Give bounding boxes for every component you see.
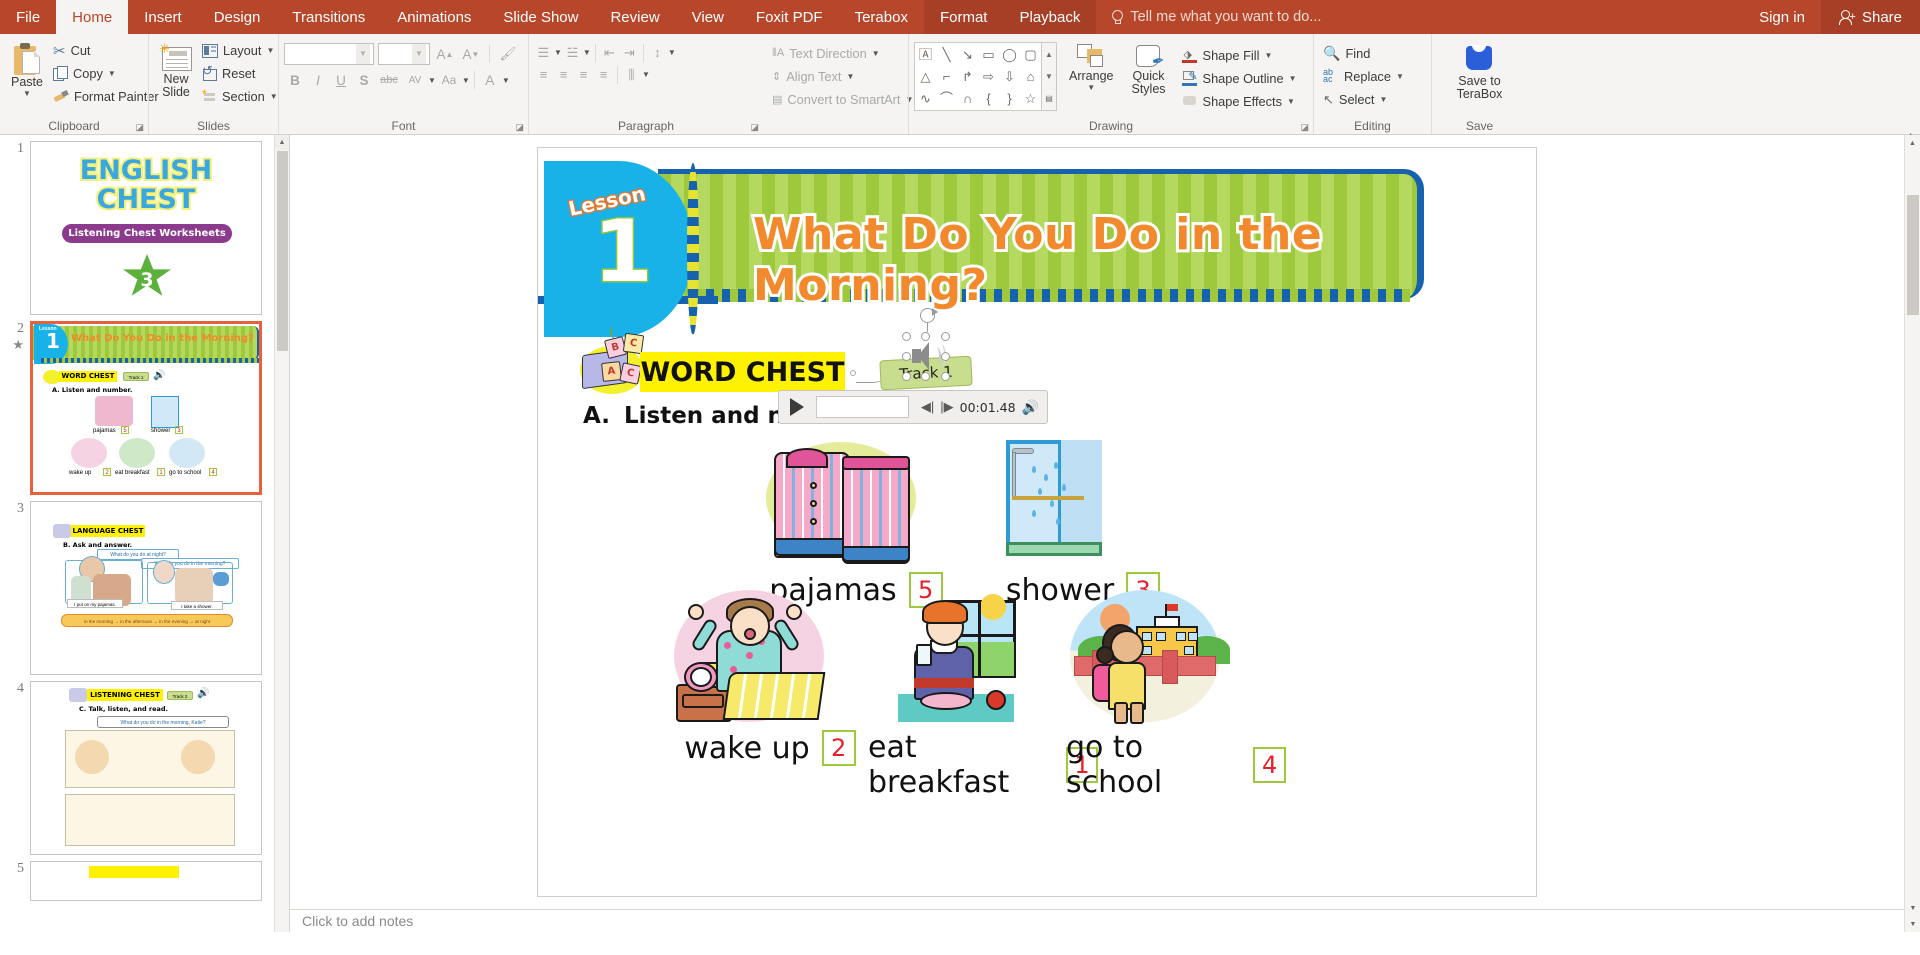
thumb2-item-wake: wake up xyxy=(69,470,91,476)
right-arrow-shape[interactable]: ⇨ xyxy=(983,70,994,83)
stage-scroll-thumb[interactable] xyxy=(1907,195,1919,315)
thumb1-star-number: 3 xyxy=(123,254,171,298)
rotate-handle[interactable] xyxy=(920,308,935,323)
card-caption: go to school 4 xyxy=(1066,730,1286,800)
terabox-label-2: TeraBox xyxy=(1457,88,1503,101)
tab-transitions[interactable]: Transitions xyxy=(276,0,381,34)
person-add-icon: + xyxy=(1839,9,1855,25)
tab-design[interactable]: Design xyxy=(198,0,277,34)
thumb2-track: Track 1 xyxy=(123,372,149,381)
group-label-paragraph: Paragraph xyxy=(529,118,763,134)
thumb2-ans-pajamas: 5 xyxy=(121,426,129,434)
ribbon-group-save: Save to TeraBox Save xyxy=(1431,34,1527,134)
thumbnail-1[interactable]: ENGLISH CHEST Listening Chest Worksheets… xyxy=(30,141,262,315)
bullets-button[interactable]: ☰ xyxy=(534,43,553,62)
star-shape[interactable]: ☆ xyxy=(1025,92,1037,105)
copy-label: Copy xyxy=(73,66,103,81)
text-direction-button[interactable]: ⦀A Text Direction ▼ xyxy=(768,42,884,65)
go-to-school-answer-box[interactable]: 4 xyxy=(1253,747,1286,783)
rounded-rectangle-shape[interactable]: ▢ xyxy=(1024,48,1036,61)
wake-up-answer-box[interactable]: 2 xyxy=(822,730,856,766)
convert-to-smartart-button[interactable]: ▤ Convert to SmartArt ▼ xyxy=(768,88,917,111)
audio-time: 00:01.48 xyxy=(960,400,1016,415)
ribbon-group-clipboard: Paste ▼ ✂ Cut Copy ▼ Format Painter xyxy=(0,34,148,134)
thumb4-speaker-icon: 🔊 xyxy=(197,688,209,699)
resize-handle-w[interactable] xyxy=(902,352,911,361)
tell-me-placeholder: Tell me what you want to do... xyxy=(1130,9,1321,25)
thumb3-instruction: B. Ask and answer. xyxy=(63,541,132,549)
tab-animations[interactable]: Animations xyxy=(381,0,487,34)
thumbnail-5[interactable] xyxy=(30,861,262,901)
arc-shape[interactable]: ⌒ xyxy=(940,92,953,105)
group-label-slides: Slides xyxy=(149,118,278,134)
paragraph-dialog-launcher[interactable]: ◪ xyxy=(750,122,759,133)
tab-home[interactable]: Home xyxy=(56,0,128,34)
ribbon-group-slides: ✳ New Slide Layout ▼ Reset Section xyxy=(148,34,278,134)
character-spacing-button[interactable]: AV xyxy=(403,69,427,91)
elbow-arrow-shape[interactable]: ↱ xyxy=(962,70,973,83)
arrange-button[interactable]: Arrange ▼ xyxy=(1063,42,1119,94)
chevron-down-icon[interactable]: ▼ xyxy=(668,49,676,57)
thumbnail-3[interactable]: LANGUAGE CHEST B. Ask and answer. What d… xyxy=(30,501,262,675)
thumbnail-scroll-thumb[interactable] xyxy=(277,151,288,351)
shape-outline-button[interactable]: ✎ Shape Outline ▼ xyxy=(1178,67,1301,90)
resize-handle-n[interactable] xyxy=(921,332,930,341)
lesson-banner: Lesson 1 What Do You Do in the Morning? xyxy=(538,161,1424,319)
tab-slide-show[interactable]: Slide Show xyxy=(487,0,594,34)
slide-editing-stage[interactable]: Lesson 1 What Do You Do in the Morning? … xyxy=(290,135,1920,932)
increase-font-size-button[interactable]: A▲ xyxy=(434,43,456,65)
thumb2-item-eat: eat breakfast xyxy=(115,470,150,476)
shape-outline-label: Shape Outline xyxy=(1203,71,1284,86)
font-name-box[interactable]: ▼ xyxy=(284,43,374,65)
cursor-icon: ↖ xyxy=(1323,92,1334,108)
chevron-down-icon[interactable]: ▼ xyxy=(642,71,650,79)
go-to-school-image xyxy=(1066,590,1286,728)
numbering-button[interactable]: ☱ xyxy=(563,43,582,62)
tab-review[interactable]: Review xyxy=(594,0,675,34)
copy-button[interactable]: Copy ▼ xyxy=(49,62,163,85)
layout-label: Layout xyxy=(223,43,261,58)
ribbon-group-paragraph: ☰ ▼ ☱ ▼ ⇤ ⇥ ↕ ▼ ≡ ≡ ≡ ≡ ⫼ ▼ Paragraph xyxy=(528,34,763,134)
thumbnail-number-2: 2 ★ xyxy=(8,321,30,353)
reset-icon xyxy=(202,67,217,81)
card-shower[interactable]: shower 3 xyxy=(988,430,1178,608)
cube-c1: C xyxy=(623,333,644,354)
thumb1-title-line1: ENGLISH xyxy=(31,156,261,185)
decrease-indent-button[interactable]: ⇤ xyxy=(600,43,619,62)
scroll-down-icon[interactable]: ▼ xyxy=(1905,900,1920,916)
ribbon-tab-bar: File Home Insert Design Transitions Anim… xyxy=(0,0,1920,34)
quick-styles-icon: ✒ xyxy=(1134,44,1164,70)
volume-icon[interactable]: 🔊 xyxy=(1022,399,1039,416)
chevron-down-icon[interactable]: ▼ xyxy=(502,77,510,85)
wake-up-label: wake up xyxy=(684,731,809,766)
ribbon-group-font: ▼ ▼ A▲ A▼ 🖌 B I U S abc AV ▼ Aa xyxy=(278,34,528,134)
scroll-down-icon[interactable]: ▼ xyxy=(1042,65,1056,87)
shape-effects-icon xyxy=(1182,94,1198,109)
thumb2-item-pajamas: pajamas xyxy=(93,428,116,434)
select-label: Select xyxy=(1339,92,1375,107)
tab-view[interactable]: View xyxy=(676,0,740,34)
textbox-shape[interactable]: 🄰 xyxy=(919,48,932,61)
section-icon xyxy=(202,90,217,104)
change-case-button[interactable]: Aa xyxy=(437,69,461,91)
tag-string xyxy=(856,374,882,383)
chevron-down-icon[interactable]: ▼ xyxy=(1087,84,1095,92)
line-shape[interactable]: ╲ xyxy=(943,48,951,61)
reset-label: Reset xyxy=(222,66,255,81)
scroll-bottom-icon[interactable]: ▼ xyxy=(1905,916,1920,932)
drawing-dialog-launcher[interactable]: ◪ xyxy=(1300,122,1309,133)
cut-button[interactable]: ✂ Cut xyxy=(49,39,163,62)
reset-button[interactable]: Reset xyxy=(198,62,282,85)
thumb2-ans-school: 4 xyxy=(209,468,217,476)
thumb3-section-label: LANGUAGE CHEST xyxy=(71,525,145,537)
text-shadow-button[interactable]: S xyxy=(353,69,375,91)
format-painter-button[interactable]: Format Painter xyxy=(49,85,163,108)
go-to-school-label: go to school xyxy=(1066,730,1241,800)
thumbnail-row-4[interactable]: 4 LISTENING CHEST Track 2 🔊 C. Talk, lis… xyxy=(0,675,289,855)
shape-effects-label: Shape Effects xyxy=(1203,94,1282,109)
thumbnail-2[interactable]: Lesson 1 What Do You Do in the Morning? … xyxy=(30,321,262,495)
font-color-button[interactable]: A xyxy=(479,69,501,91)
strikethrough-button[interactable]: abc xyxy=(376,69,402,91)
thumb3-answer1: I put on my pajamas. xyxy=(67,599,123,608)
chevron-down-icon[interactable]: ▼ xyxy=(412,44,426,64)
audio-progress-track[interactable] xyxy=(816,396,909,418)
chevron-down-icon[interactable]: ▼ xyxy=(1287,98,1295,106)
sign-in-button[interactable]: Sign in xyxy=(1743,0,1821,34)
convert-smartart-label: Convert to SmartArt xyxy=(787,92,900,107)
pajamas-image xyxy=(756,434,956,570)
shapes-more-icon[interactable]: ▤ xyxy=(1042,88,1056,110)
animation-indicator-icon: ★ xyxy=(8,337,24,353)
resize-handle-ne[interactable] xyxy=(941,332,950,341)
align-left-button[interactable]: ≡ xyxy=(534,65,553,84)
font-dialog-launcher[interactable]: ◪ xyxy=(515,122,524,133)
justify-button[interactable]: ≡ xyxy=(594,65,613,84)
tell-me-box[interactable]: Tell me what you want to do... xyxy=(1096,0,1335,34)
shower-image xyxy=(988,430,1178,570)
chevron-down-icon[interactable]: ▼ xyxy=(266,47,274,55)
right-brace-shape[interactable]: } xyxy=(1007,92,1011,105)
pentagon-shape[interactable]: ⌂ xyxy=(1027,70,1035,83)
thumb2-ans-wake: 2 xyxy=(103,468,111,476)
scribble-shape[interactable]: ∿ xyxy=(920,92,931,105)
eat-breakfast-image xyxy=(868,590,1098,728)
new-slide-label-2: Slide xyxy=(162,86,190,99)
align-center-button[interactable]: ≡ xyxy=(554,65,573,84)
notes-pane[interactable]: Click to add notes xyxy=(290,909,1904,932)
chevron-down-icon[interactable]: ▼ xyxy=(108,70,116,78)
chevron-down-icon[interactable]: ▼ xyxy=(270,93,278,101)
chevron-down-icon[interactable]: ▼ xyxy=(462,77,470,85)
thumb4-instruction: C. Talk, listen, and read. xyxy=(79,705,168,713)
thumb2-speaker-icon: 🔊 xyxy=(153,370,165,381)
replace-icon: abac xyxy=(1323,69,1339,84)
thumb2-ans-shower: 3 xyxy=(175,426,183,434)
thumbnail-row-5[interactable]: 5 xyxy=(0,855,289,901)
tab-format[interactable]: Format xyxy=(924,0,1004,34)
clipboard-icon xyxy=(12,43,42,76)
slide-title[interactable]: What Do You Do in the Morning? xyxy=(753,209,1413,311)
card-pajamas[interactable]: pajamas 5 xyxy=(756,434,956,608)
thumbnail-number-5: 5 xyxy=(8,861,30,877)
thumbnail-pane-scrollbar[interactable]: ▲ xyxy=(274,135,289,932)
chevron-down-icon[interactable]: ▼ xyxy=(23,90,31,98)
thumb2-lesson-number: 1 xyxy=(46,331,60,351)
share-label: Share xyxy=(1862,9,1902,26)
line-spacing-button[interactable]: ↕ xyxy=(648,43,667,62)
chevron-down-icon[interactable]: ▼ xyxy=(428,77,436,85)
card-wake-up[interactable]: wake up 2 xyxy=(670,590,870,766)
chevron-down-icon[interactable]: ▼ xyxy=(846,73,854,81)
chevron-down-icon[interactable]: ▼ xyxy=(1396,73,1404,81)
wake-up-image xyxy=(670,590,870,728)
paintbrush-icon xyxy=(53,89,69,104)
thumb2-ans-eat: 1 xyxy=(157,468,165,476)
align-right-button[interactable]: ≡ xyxy=(574,65,593,84)
ribbon-group-editing: 🔍 Find abac Replace ▼ ↖ Select ▼ Editing xyxy=(1313,34,1431,134)
chevron-down-icon[interactable]: ▼ xyxy=(583,49,591,57)
left-brace-shape[interactable]: { xyxy=(986,92,990,105)
step-back-icon[interactable]: ◀| xyxy=(921,399,934,415)
clipboard-dialog-launcher[interactable]: ◪ xyxy=(135,122,144,133)
copy-icon xyxy=(53,66,68,81)
search-icon: 🔍 xyxy=(1323,45,1340,62)
account-area: Sign in + Share xyxy=(1743,0,1920,34)
layout-button[interactable]: Layout ▼ xyxy=(198,39,282,62)
bold-button[interactable]: B xyxy=(284,69,306,91)
elbow-connector-shape[interactable]: ⌐ xyxy=(943,70,951,83)
tab-playback[interactable]: Playback xyxy=(1003,0,1096,34)
clear-formatting-icon[interactable]: 🖌 xyxy=(497,43,519,65)
oval-shape[interactable]: ◯ xyxy=(1002,48,1017,61)
thumb4-track: Track 2 xyxy=(167,691,193,700)
scroll-up-icon[interactable]: ▲ xyxy=(275,135,289,150)
thumb2-item-school: go to school xyxy=(169,470,201,476)
share-button[interactable]: + Share xyxy=(1821,0,1920,34)
rectangle-shape[interactable]: ▭ xyxy=(982,48,994,61)
instruction-letter: A. xyxy=(583,403,610,429)
chevron-down-icon[interactable]: ▼ xyxy=(872,50,880,58)
card-eat-breakfast[interactable]: eat breakfast 1 xyxy=(868,590,1098,800)
section-button[interactable]: Section ▼ xyxy=(198,85,282,108)
align-text-button[interactable]: ⇕ Align Text ▼ xyxy=(768,65,858,88)
scroll-up-icon[interactable]: ▲ xyxy=(1905,135,1920,151)
thumbnail-number-4: 4 xyxy=(8,681,30,697)
group-label-font: Font xyxy=(279,118,528,134)
step-forward-icon[interactable]: |▶ xyxy=(940,399,953,415)
group-label-save: Save xyxy=(1432,118,1527,134)
card-go-to-school[interactable]: go to school 4 xyxy=(1066,590,1286,800)
workspace: 1 ENGLISH CHEST Listening Chest Workshee… xyxy=(0,135,1920,932)
group-label-drawing: Drawing xyxy=(909,118,1313,134)
thumb3-timeline: in the morning → in the afternoon → in t… xyxy=(61,614,233,627)
shapes-gallery[interactable]: 🄰 ╲ ↘ ▭ ◯ ▢ △ ⌐ ↱ ⇨ ⇩ ⌂ ∿ ⌒ ∩ { } xyxy=(914,42,1042,111)
columns-button[interactable]: ⫼ xyxy=(622,65,641,84)
group-label-editing: Editing xyxy=(1314,118,1431,134)
thumb2-section-label: WORD CHEST xyxy=(59,371,117,382)
terabox-icon xyxy=(1462,43,1496,75)
current-slide[interactable]: Lesson 1 What Do You Do in the Morning? … xyxy=(537,147,1537,897)
thumb2-item-shower: shower xyxy=(151,428,170,434)
shape-fill-icon: ⬗ xyxy=(1182,48,1198,63)
scroll-up-icon[interactable]: ▲ xyxy=(1042,43,1056,65)
shape-outline-icon: ✎ xyxy=(1182,71,1198,86)
underline-button[interactable]: U xyxy=(330,69,352,91)
tab-terabox[interactable]: Terabox xyxy=(839,0,924,34)
thumbnail-number-1: 1 xyxy=(8,141,30,157)
audio-object-selection[interactable] xyxy=(898,328,954,384)
italic-button[interactable]: I xyxy=(307,69,329,91)
save-to-terabox-button[interactable]: Save to TeraBox xyxy=(1451,41,1509,103)
shape-fill-label: Shape Fill xyxy=(1203,48,1260,63)
notes-placeholder: Click to add notes xyxy=(302,913,413,929)
audio-speaker-icon[interactable] xyxy=(912,342,940,370)
ribbon-group-paragraph-extras: ⦀A Text Direction ▼ ⇕ Align Text ▼ ▤ Con… xyxy=(763,34,908,134)
arrow-shape[interactable]: ↘ xyxy=(962,48,973,61)
thumb4-bubble: What do you do in the morning, Katie? xyxy=(97,716,229,728)
font-size-box[interactable]: ▼ xyxy=(378,43,430,65)
scissors-icon: ✂ xyxy=(53,42,66,60)
find-button[interactable]: 🔍 Find xyxy=(1319,42,1374,65)
cut-label: Cut xyxy=(71,43,91,58)
tab-file[interactable]: File xyxy=(0,0,56,34)
curve-shape[interactable]: ∩ xyxy=(963,92,972,105)
chevron-down-icon[interactable]: ▼ xyxy=(1264,52,1272,60)
thumbnail-number-3: 3 xyxy=(8,501,30,517)
chevron-down-icon[interactable]: ▼ xyxy=(1289,75,1297,83)
new-slide-button[interactable]: ✳ New Slide xyxy=(154,39,198,101)
find-label: Find xyxy=(1345,46,1370,61)
section-label: Section xyxy=(222,89,265,104)
thumb4-section-label: LISTENING CHEST xyxy=(87,689,163,701)
group-label-clipboard: Clipboard xyxy=(0,118,148,134)
align-text-label: Align Text xyxy=(786,69,841,84)
thumb2-title: What Do You Do in the Morning? xyxy=(71,333,254,344)
audio-player-toolbar[interactable]: ◀| |▶ 00:01.48 🔊 xyxy=(778,390,1048,424)
ribbon-group-drawing: 🄰 ╲ ↘ ▭ ◯ ▢ △ ⌐ ↱ ⇨ ⇩ ⌂ ∿ ⌒ ∩ { } xyxy=(908,34,1313,134)
decrease-font-size-button[interactable]: A▼ xyxy=(460,43,482,65)
layout-icon xyxy=(202,44,218,58)
stage-scrollbar[interactable]: ▲ ▼ ▼ xyxy=(1904,135,1920,932)
paste-label: Paste xyxy=(11,76,43,89)
thumbnail-4[interactable]: LISTENING CHEST Track 2 🔊 C. Talk, liste… xyxy=(30,681,262,855)
paste-button[interactable]: Paste ▼ xyxy=(5,39,49,100)
increase-indent-button[interactable]: ⇥ xyxy=(620,43,639,62)
resize-handle-sw[interactable] xyxy=(902,372,911,381)
lesson-number: 1 xyxy=(593,209,653,295)
arrange-icon xyxy=(1077,44,1105,70)
word-chest-label: WORD CHEST xyxy=(640,352,845,392)
shape-effects-button[interactable]: Shape Effects ▼ xyxy=(1178,90,1301,113)
resize-handle-nw[interactable] xyxy=(902,332,911,341)
replace-label: Replace xyxy=(1344,69,1391,84)
down-arrow-shape[interactable]: ⇩ xyxy=(1004,70,1015,83)
thumbnail-row-3[interactable]: 3 LANGUAGE CHEST B. Ask and answer. What… xyxy=(0,495,289,675)
replace-button[interactable]: abac Replace ▼ xyxy=(1319,65,1408,88)
quick-styles-label-2: Styles xyxy=(1131,83,1165,96)
cube-c2: C xyxy=(619,362,642,385)
lightbulb-icon xyxy=(1110,10,1123,25)
thumb2-instruction: A. Listen and number. xyxy=(52,386,132,394)
tab-insert[interactable]: Insert xyxy=(128,0,198,34)
thumb1-subtitle: Listening Chest Worksheets xyxy=(62,224,232,243)
eat-breakfast-label: eat breakfast xyxy=(868,730,1054,800)
thumbnail-row-2[interactable]: 2 ★ Lesson 1 What Do You Do in the Morni… xyxy=(0,315,289,495)
new-slide-icon: ✳ xyxy=(158,43,194,73)
arrange-label: Arrange xyxy=(1069,70,1113,83)
chevron-down-icon[interactable]: ▼ xyxy=(554,49,562,57)
triangle-shape[interactable]: △ xyxy=(921,70,931,83)
thumb1-title-line2: CHEST xyxy=(31,185,261,214)
slide-thumbnail-pane[interactable]: 1 ENGLISH CHEST Listening Chest Workshee… xyxy=(0,135,290,932)
text-direction-label: Text Direction xyxy=(789,46,867,61)
resize-handle-se[interactable] xyxy=(941,372,950,381)
select-button[interactable]: ↖ Select ▼ xyxy=(1319,88,1391,111)
thumbnail-row-1[interactable]: 1 ENGLISH CHEST Listening Chest Workshee… xyxy=(0,135,289,315)
card-caption: eat breakfast 1 xyxy=(868,730,1098,800)
resize-handle-s[interactable] xyxy=(921,372,930,381)
thumb3-answer2: I take a shower. xyxy=(171,601,223,610)
tab-foxit-pdf[interactable]: Foxit PDF xyxy=(740,0,839,34)
ribbon: Paste ▼ ✂ Cut Copy ▼ Format Painter xyxy=(0,34,1920,135)
shapes-gallery-scrollbar[interactable]: ▲ ▼ ▤ xyxy=(1042,42,1057,111)
card-caption: wake up 2 xyxy=(670,730,870,766)
format-painter-label: Format Painter xyxy=(74,89,159,104)
quick-styles-button[interactable]: ✒ Quick Styles xyxy=(1125,42,1171,98)
chevron-down-icon[interactable]: ▼ xyxy=(356,44,370,64)
resize-handle-e[interactable] xyxy=(941,352,950,361)
chevron-down-icon[interactable]: ▼ xyxy=(1379,96,1387,104)
shape-fill-button[interactable]: ⬗ Shape Fill ▼ xyxy=(1178,44,1301,67)
play-icon[interactable] xyxy=(790,398,804,416)
